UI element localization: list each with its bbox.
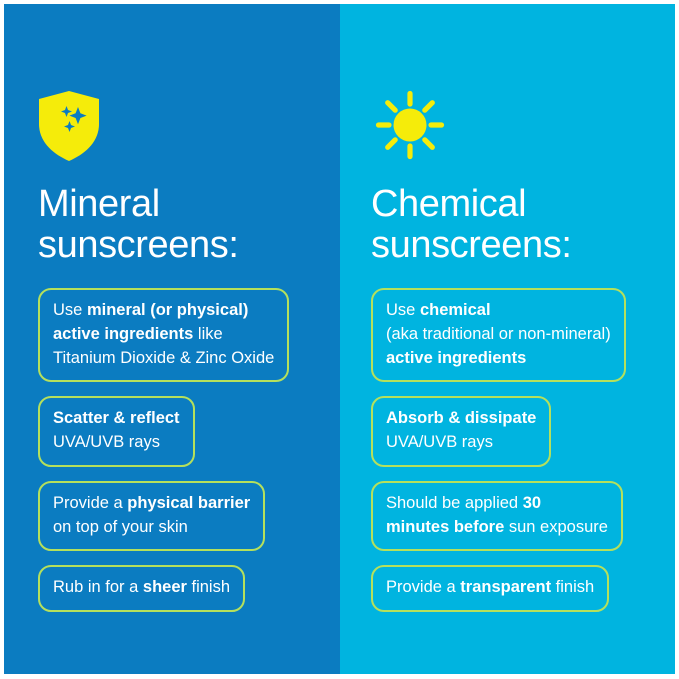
fact-text-bold: active ingredients xyxy=(386,349,526,367)
mineral-icon-wrap xyxy=(38,90,340,168)
fact-apply-30-minutes: Should be applied 30minutes before sun e… xyxy=(371,481,623,552)
fact-line: UVA/UVB rays xyxy=(53,431,180,455)
panel-mineral: Mineral sunscreens: Use mineral (or phys… xyxy=(4,4,340,674)
fact-text: finish xyxy=(551,578,594,596)
fact-line: Provide a transparent finish xyxy=(386,576,594,600)
fact-text-bold: chemical xyxy=(420,301,491,319)
fact-text-bold: physical barrier xyxy=(127,494,250,512)
page-title-chemical: Chemical sunscreens: xyxy=(371,184,675,266)
fact-line: UVA/UVB rays xyxy=(386,431,536,455)
fact-text-bold: active ingredients xyxy=(53,325,193,343)
fact-line: Should be applied 30 xyxy=(386,492,608,516)
fact-line: minutes before sun exposure xyxy=(386,516,608,540)
fact-absorb-dissipate: Absorb & dissipateUVA/UVB rays xyxy=(371,396,551,467)
chemical-fact-list: Use chemical(aka traditional or non-mine… xyxy=(371,288,675,626)
fact-line: (aka traditional or non-mineral) xyxy=(386,323,611,347)
fact-chemical-ingredients: Use chemical(aka traditional or non-mine… xyxy=(371,288,626,382)
page-title-mineral: Mineral sunscreens: xyxy=(38,184,340,266)
fact-line: Rub in for a sheer finish xyxy=(53,576,230,600)
shield-sparkle-icon xyxy=(38,90,100,162)
fact-text-bold: sheer xyxy=(143,578,187,596)
fact-text: finish xyxy=(187,578,230,596)
fact-text-bold: 30 xyxy=(523,494,541,512)
fact-text: UVA/UVB rays xyxy=(386,433,493,451)
fact-text: UVA/UVB rays xyxy=(53,433,160,451)
chemical-icon-wrap xyxy=(371,90,675,168)
fact-text-bold: mineral (or physical) xyxy=(87,301,248,319)
fact-text: Should be applied xyxy=(386,494,523,512)
fact-line: Use mineral (or physical) xyxy=(53,299,274,323)
fact-text: Rub in for a xyxy=(53,578,143,596)
panel-chemical: Chemical sunscreens: Use chemical(aka tr… xyxy=(340,4,675,674)
sun-icon xyxy=(375,90,445,160)
fact-text-bold: transparent xyxy=(460,578,551,596)
fact-text: Use xyxy=(53,301,87,319)
comparison-panels: Mineral sunscreens: Use mineral (or phys… xyxy=(4,4,675,674)
fact-scatter-reflect: Scatter & reflectUVA/UVB rays xyxy=(38,396,195,467)
fact-active-ingredients: Use mineral (or physical)active ingredie… xyxy=(38,288,289,382)
fact-text: Provide a xyxy=(386,578,460,596)
fact-line: Titanium Dioxide & Zinc Oxide xyxy=(53,347,274,371)
fact-line: Absorb & dissipate xyxy=(386,407,536,431)
fact-text: like xyxy=(193,325,222,343)
sunscreen-comparison-infographic: Mineral sunscreens: Use mineral (or phys… xyxy=(0,0,679,679)
fact-text: Provide a xyxy=(53,494,127,512)
fact-text-bold: minutes before xyxy=(386,518,504,536)
fact-line: active ingredients like xyxy=(53,323,274,347)
fact-transparent-finish: Provide a transparent finish xyxy=(371,565,609,612)
fact-line: Use chemical xyxy=(386,299,611,323)
fact-text-bold: Absorb & dissipate xyxy=(386,409,536,427)
fact-text: sun exposure xyxy=(504,518,608,536)
fact-text-bold: Scatter & reflect xyxy=(53,409,180,427)
fact-physical-barrier: Provide a physical barrieron top of your… xyxy=(38,481,265,552)
fact-sheer-finish: Rub in for a sheer finish xyxy=(38,565,245,612)
fact-line: active ingredients xyxy=(386,347,611,371)
mineral-fact-list: Use mineral (or physical)active ingredie… xyxy=(38,288,340,626)
fact-line: Scatter & reflect xyxy=(53,407,180,431)
fact-line: on top of your skin xyxy=(53,516,250,540)
fact-text: (aka traditional or non-mineral) xyxy=(386,325,611,343)
fact-text: on top of your skin xyxy=(53,518,188,536)
fact-line: Provide a physical barrier xyxy=(53,492,250,516)
fact-text: Use xyxy=(386,301,420,319)
fact-text: Titanium Dioxide & Zinc Oxide xyxy=(53,349,274,367)
